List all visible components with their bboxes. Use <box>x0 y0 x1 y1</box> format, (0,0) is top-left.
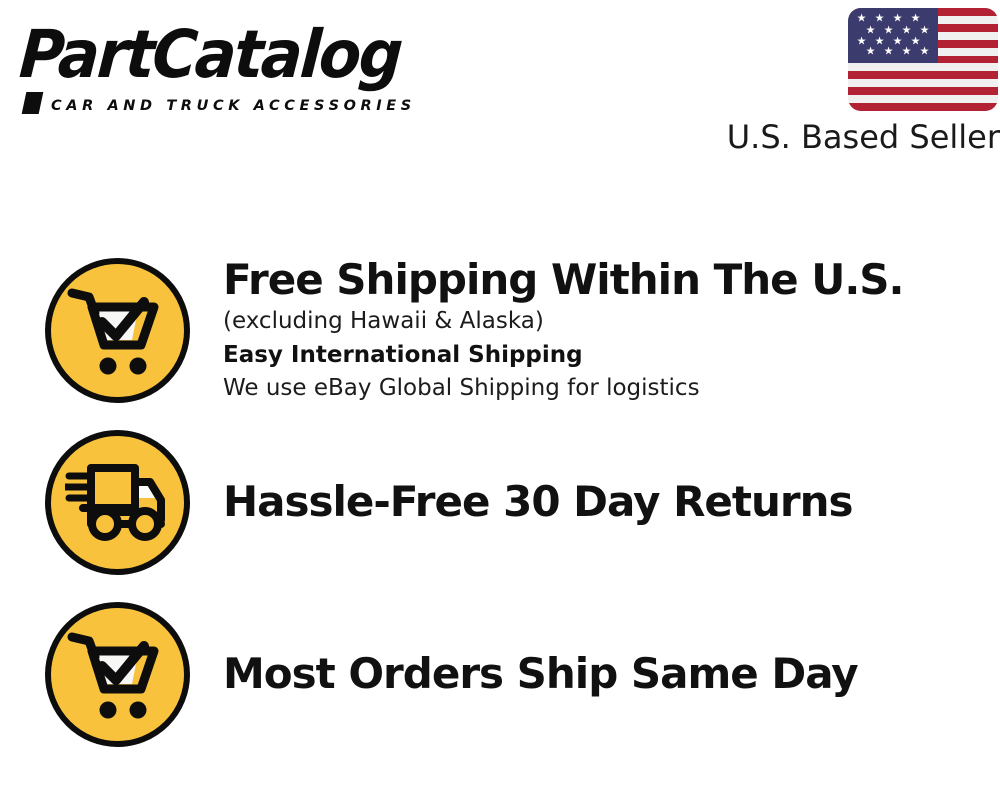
brand-tagline: CAR AND TRUCK ACCESSORIES <box>51 98 416 114</box>
banner-header: PartCatalog CAR AND TRUCK ACCESSORIES ★ … <box>0 0 1000 175</box>
seller-badge-label: U.S. Based Seller <box>700 118 1000 156</box>
brand-tagline-row: CAR AND TRUCK ACCESSORIES <box>24 92 416 114</box>
feature-row: Hassle-Free 30 Day Returns <box>0 422 1000 582</box>
feature-text: Free Shipping Within The U.S. (excluding… <box>223 255 1000 405</box>
delivery-truck-icon <box>45 430 190 575</box>
feature-subsmall: We use eBay Global Shipping for logistic… <box>223 372 980 405</box>
brand-logo: PartCatalog CAR AND TRUCK ACCESSORIES <box>22 20 492 115</box>
feature-text: Most Orders Ship Same Day <box>223 649 1000 699</box>
feature-row: Most Orders Ship Same Day <box>0 594 1000 754</box>
shopping-cart-check-icon <box>45 258 190 403</box>
feature-subnote: (excluding Hawaii & Alaska) <box>223 305 980 338</box>
us-flag-icon: ★ ★ ★ ★ ★ ★ ★ ★ ★ ★ ★ ★ ★ ★ ★ ★ <box>848 8 998 111</box>
brand-wordmark: PartCatalog <box>17 20 459 90</box>
feature-heading: Hassle-Free 30 Day Returns <box>223 477 980 527</box>
feature-heading: Free Shipping Within The U.S. <box>223 255 980 305</box>
shopping-cart-check-icon <box>45 602 190 747</box>
flag-stars: ★ ★ ★ ★ ★ ★ ★ ★ ★ ★ ★ ★ ★ ★ ★ ★ <box>848 8 998 111</box>
feature-row: Free Shipping Within The U.S. (excluding… <box>0 250 1000 410</box>
feature-text: Hassle-Free 30 Day Returns <box>223 477 1000 527</box>
feature-heading: Most Orders Ship Same Day <box>223 649 980 699</box>
seller-badge: ★ ★ ★ ★ ★ ★ ★ ★ ★ ★ ★ ★ ★ ★ ★ ★ U.S. Bas… <box>700 8 1000 156</box>
feature-substrong: Easy International Shipping <box>223 338 980 372</box>
slash-mark-icon <box>22 92 44 114</box>
